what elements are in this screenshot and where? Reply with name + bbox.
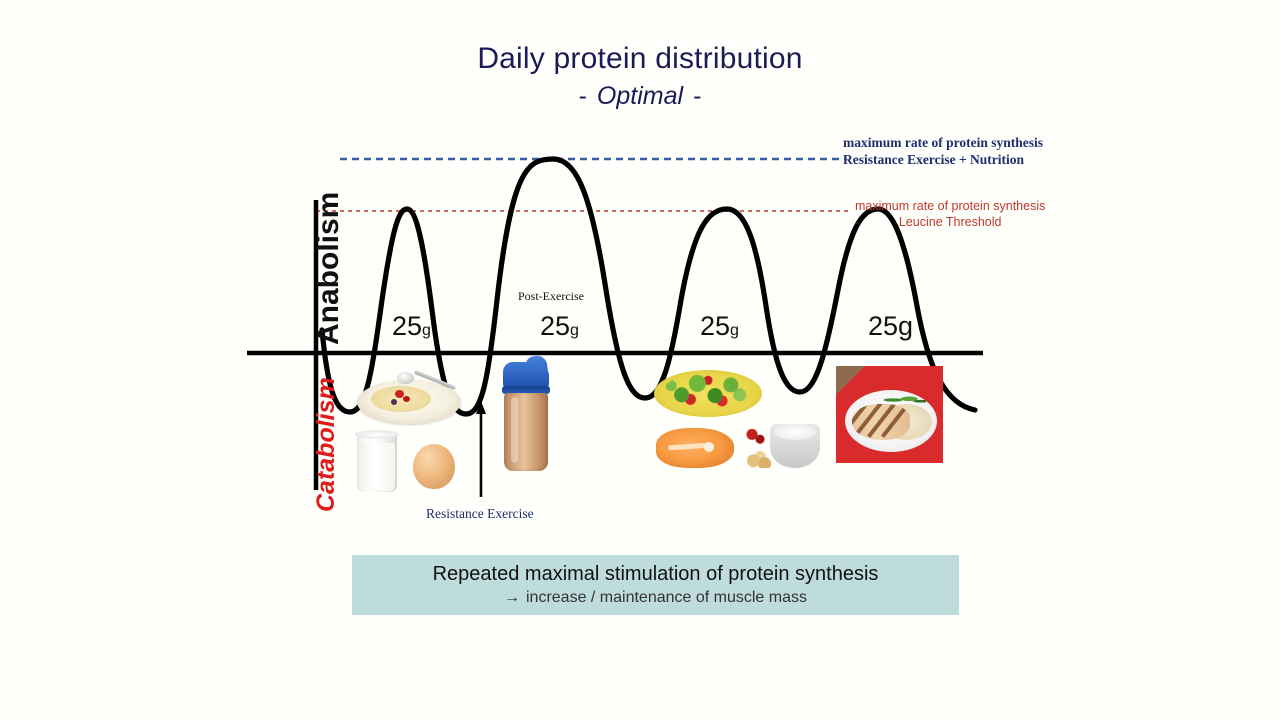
post-exercise-label: Post-Exercise — [518, 289, 584, 304]
salad-icon — [664, 372, 752, 410]
meal-image-protein-shaker — [495, 362, 557, 474]
dose-unit-1: g — [422, 322, 431, 339]
summary-callout: Repeated maximal stimulation of protein … — [352, 555, 959, 615]
arrow-right-icon: → — [504, 589, 520, 606]
slide-canvas: Daily protein distribution -Optimal- max… — [0, 0, 1280, 720]
resistance-exercise-label: Resistance Exercise — [426, 506, 534, 522]
axis-label-anabolism: Anabolism — [312, 192, 346, 345]
axis-label-catabolism: Catabolism — [312, 377, 341, 512]
blue-threshold-line1: maximum rate of protein synthesis — [843, 135, 1043, 152]
egg-icon — [413, 444, 455, 489]
red-threshold-line1: maximum rate of protein synthesis — [855, 199, 1045, 215]
spoon-bowl-icon — [397, 372, 414, 384]
milk-glass-icon — [357, 434, 397, 492]
meal-image-salad-salmon-rice — [648, 366, 826, 506]
blueberry-icon — [391, 399, 397, 405]
berry-icon — [403, 396, 410, 402]
shaker-highlight — [511, 397, 518, 463]
dose-label-3: 25g — [700, 311, 739, 342]
salmon-detail — [704, 442, 714, 452]
dose-label-2: 25g — [540, 311, 579, 342]
dose-amount-4: 25 — [868, 311, 898, 341]
rice-contents — [774, 424, 816, 440]
milk-liquid — [359, 443, 395, 491]
grill-mark — [881, 404, 910, 438]
callout-line2: increase / maintenance of muscle mass — [526, 589, 807, 606]
glass-rim — [355, 430, 399, 439]
callout-line1: Repeated maximal stimulation of protein … — [433, 563, 879, 586]
dose-unit-4: g — [898, 311, 913, 341]
dose-amount-1: 25 — [392, 311, 422, 341]
dose-unit-3: g — [730, 322, 739, 339]
blue-threshold-line2: Resistance Exercise + Nutrition — [843, 152, 1043, 169]
blue-threshold-annotation: maximum rate of protein synthesis Resist… — [843, 135, 1043, 169]
dose-amount-2: 25 — [540, 311, 570, 341]
dose-label-1: 25g — [392, 311, 431, 342]
red-threshold-line2: Leucine Threshold — [855, 215, 1045, 231]
garnish-icon — [746, 428, 766, 444]
meal-image-cereal-milk-egg — [345, 372, 470, 504]
dose-amount-3: 25 — [700, 311, 730, 341]
callout-line2-wrap: →increase / maintenance of muscle mass — [504, 589, 807, 607]
dose-unit-2: g — [570, 322, 579, 339]
shaker-lid-icon — [503, 362, 549, 388]
meal-image-grilled-chicken-rice — [836, 366, 943, 463]
dose-label-4: 25g — [868, 311, 913, 342]
red-threshold-annotation: maximum rate of protein synthesis Leucin… — [855, 199, 1045, 230]
grilled-chicken-icon — [852, 404, 910, 440]
